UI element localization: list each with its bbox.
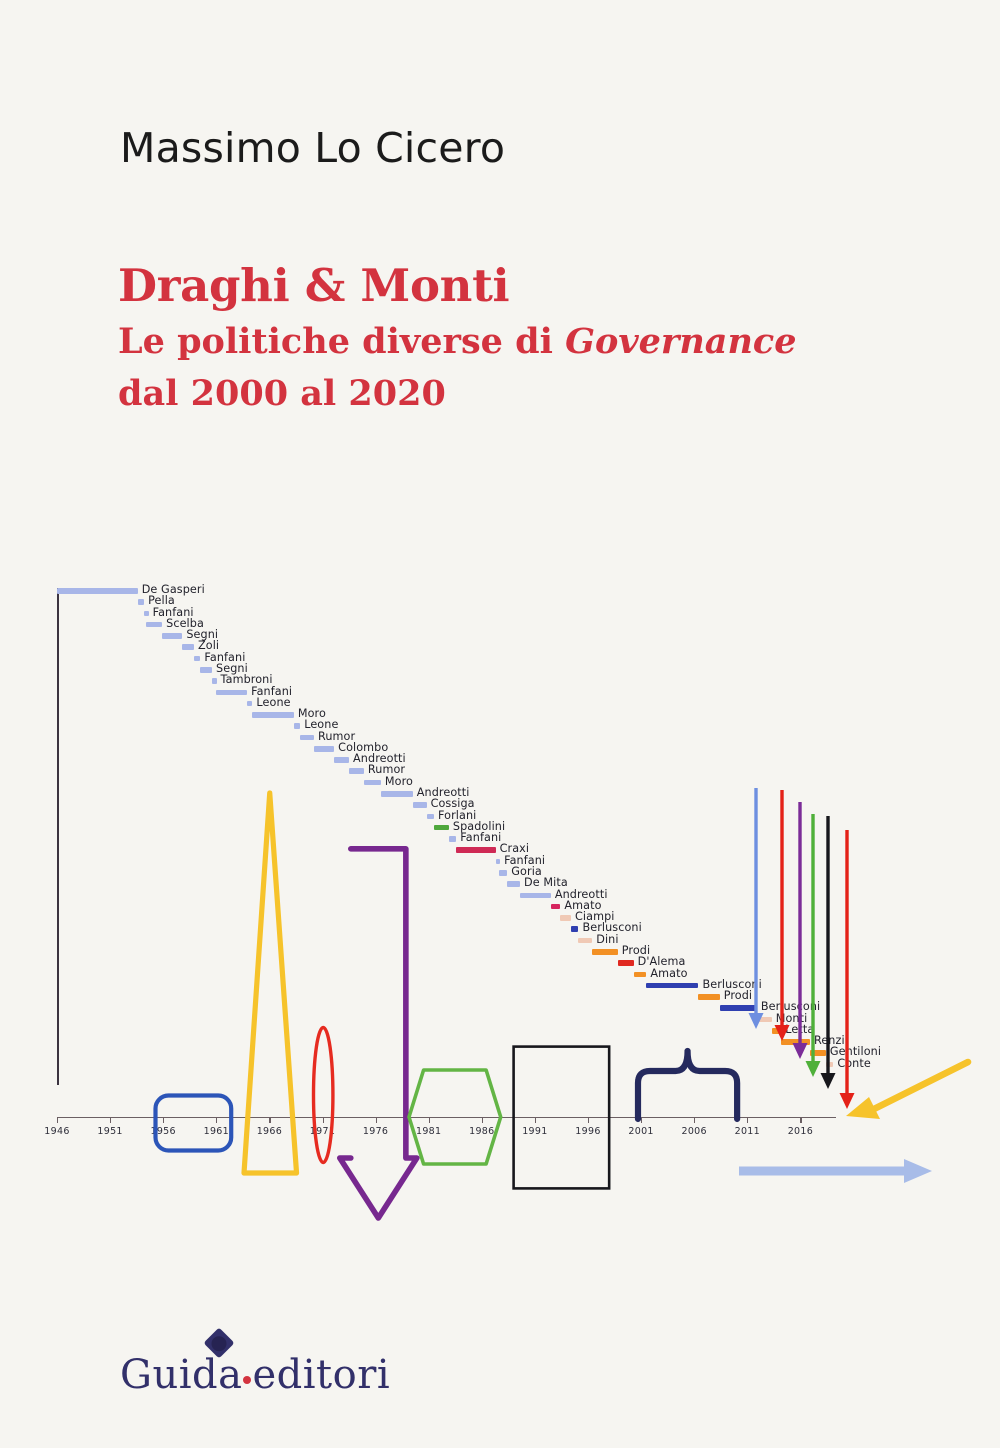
book-subtitle-line1: Le politiche diverse di Governance xyxy=(118,324,878,359)
annotation-black-rect xyxy=(512,1045,611,1190)
timeline-bar-label: Zoli xyxy=(198,640,219,651)
author-name: Massimo Lo Cicero xyxy=(120,124,505,172)
timeline-bar xyxy=(381,791,413,797)
annotation-green-hexagon xyxy=(406,1067,504,1167)
x-tick-label: 1951 xyxy=(97,1126,122,1137)
timeline-bar xyxy=(162,633,182,639)
x-tick-label: 2011 xyxy=(735,1126,760,1137)
timeline-bar xyxy=(216,690,247,696)
book-cover: Massimo Lo Cicero Draghi & Monti Le poli… xyxy=(0,0,1000,1448)
timeline-bar xyxy=(578,938,592,944)
timeline-bar xyxy=(300,735,314,741)
timeline-bar xyxy=(551,904,561,910)
timeline-bar-label: Leone xyxy=(256,697,290,708)
timeline-bar xyxy=(247,701,252,707)
timeline-bar xyxy=(146,622,162,628)
timeline-bar xyxy=(698,994,719,1000)
timeline-bar xyxy=(334,757,349,763)
timeline-bar-label: Craxi xyxy=(500,843,530,854)
timeline-bar xyxy=(349,768,364,774)
publisher-dot-icon xyxy=(243,1376,251,1384)
publisher-logo: Guidaeditori xyxy=(120,1352,390,1408)
timeline-bar xyxy=(560,915,571,921)
timeline-bar xyxy=(413,802,427,808)
timeline-bar xyxy=(592,949,617,955)
x-tick xyxy=(57,1117,58,1123)
annotation-vertical-arrow-blue xyxy=(745,786,767,1032)
x-tick-label: 2001 xyxy=(628,1126,653,1137)
timeline-bar xyxy=(200,667,212,673)
x-tick-label: 2016 xyxy=(788,1126,813,1137)
timeline-bar xyxy=(499,870,507,876)
x-tick-label: 2006 xyxy=(681,1126,706,1137)
timeline-bar-label: Amato xyxy=(650,968,687,979)
title-block: Draghi & Monti Le politiche diverse di G… xyxy=(118,263,878,411)
timeline-bar xyxy=(618,960,634,966)
timeline-bar xyxy=(144,611,149,617)
annotation-blue-rounded-rect xyxy=(153,1093,234,1153)
chart-y-axis xyxy=(57,588,59,1085)
publisher-editori: editori xyxy=(252,1352,390,1398)
x-tick-label: 1946 xyxy=(44,1126,69,1137)
timeline-bar-label: D'Alema xyxy=(638,956,686,967)
timeline-bar xyxy=(138,599,144,605)
annotation-purple-down-arrow xyxy=(347,845,424,1224)
timeline-bar-label: Tambroni xyxy=(221,674,273,685)
timeline-bar-label: Moro xyxy=(385,776,413,787)
timeline-bar xyxy=(449,836,456,842)
timeline-bar xyxy=(496,859,501,865)
book-subtitle-line2: dal 2000 al 2020 xyxy=(118,376,878,411)
timeline-bar-label: Dini xyxy=(596,934,618,945)
timeline-bar-label: Berlusconi xyxy=(582,922,641,933)
timeline-bar xyxy=(520,893,551,899)
annotation-yellow-diagonal-arrow xyxy=(838,1057,974,1127)
timeline-bar-label: Cossiga xyxy=(431,798,475,809)
timeline-bar-label: Pella xyxy=(148,595,175,606)
timeline-bar-label: Fanfani xyxy=(460,832,501,843)
timeline-bar-label: De Mita xyxy=(524,877,568,888)
annotation-red-ellipse xyxy=(311,1025,335,1165)
timeline-bar xyxy=(571,926,578,932)
x-tick xyxy=(747,1117,748,1123)
timeline-bar xyxy=(507,881,520,887)
subtitle-governance: Governance xyxy=(565,321,796,362)
timeline-bar xyxy=(434,825,449,831)
x-tick xyxy=(110,1117,111,1123)
annotation-yellow-inverted-triangle xyxy=(240,790,301,1177)
timeline-bar xyxy=(252,712,293,718)
timeline-bar-label: Leone xyxy=(304,719,338,730)
timeline-bar xyxy=(182,644,194,650)
publisher-guida: Guida xyxy=(120,1352,242,1398)
subtitle-prefix: Le politiche diverse di xyxy=(118,321,565,362)
x-tick xyxy=(800,1117,801,1123)
timeline-bar xyxy=(427,814,434,820)
annotation-navy-brace xyxy=(635,1047,740,1121)
timeline-bar xyxy=(364,780,381,786)
timeline-bar-label: Rumor xyxy=(368,764,405,775)
governments-timeline-chart: 1946195119561961196619711976198119861991… xyxy=(0,560,1000,1200)
timeline-bar xyxy=(194,656,200,662)
timeline-bar xyxy=(212,678,217,684)
timeline-bar xyxy=(314,746,334,752)
annotation-lightblue-horizontal-arrow xyxy=(736,1156,936,1186)
timeline-bar xyxy=(634,972,647,978)
publisher-name: Guidaeditori xyxy=(120,1352,390,1398)
timeline-bar xyxy=(57,588,138,594)
book-title: Draghi & Monti xyxy=(118,263,878,308)
timeline-bar xyxy=(646,983,698,989)
timeline-bar xyxy=(294,723,300,729)
timeline-bar xyxy=(456,847,495,853)
